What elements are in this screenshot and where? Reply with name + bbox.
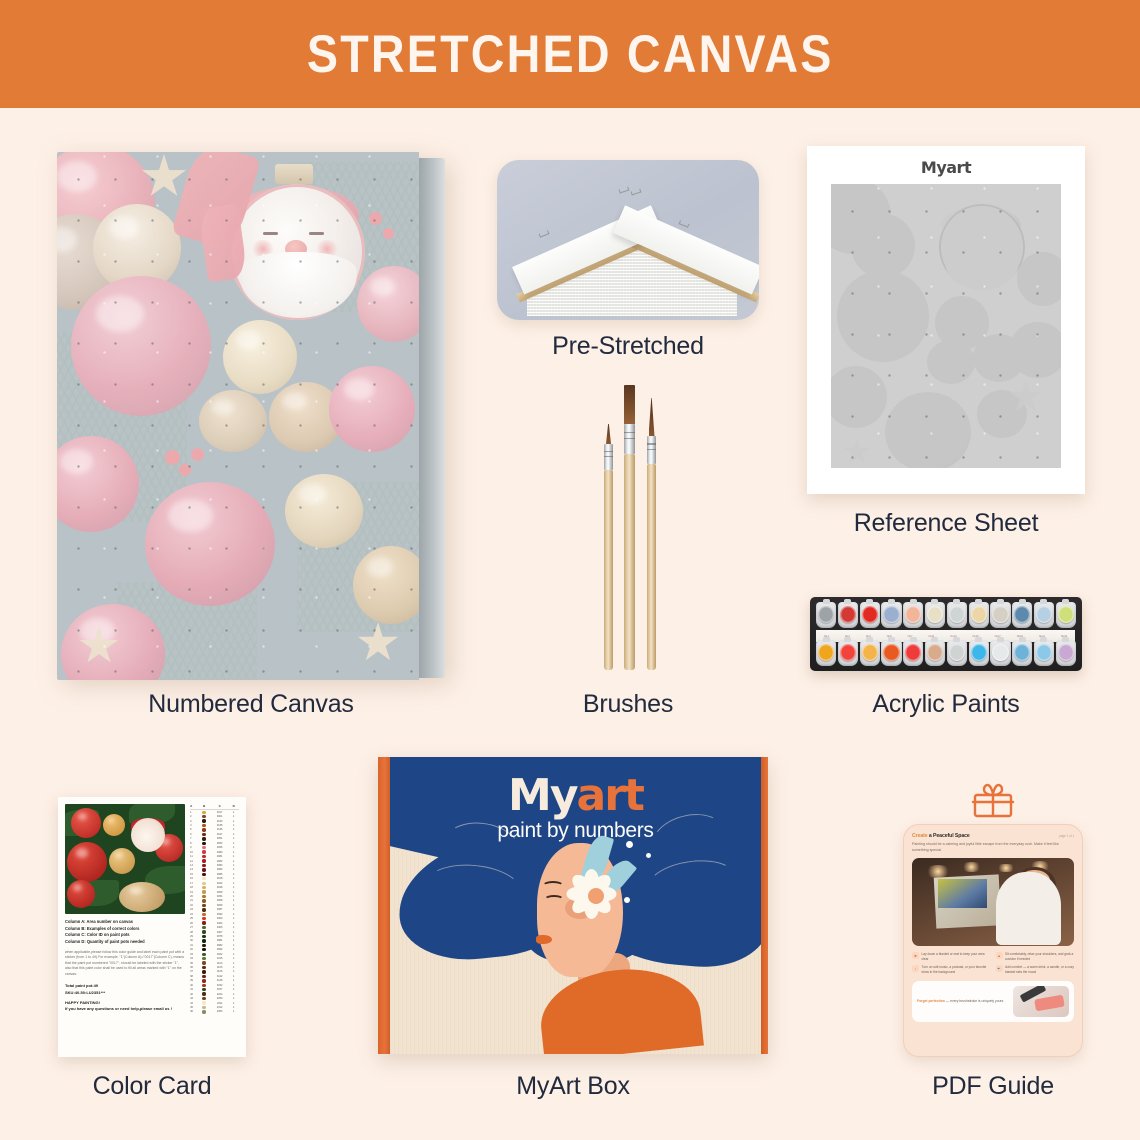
cell-color-id: 0405 (210, 926, 229, 929)
cell-area: 31 (190, 944, 198, 947)
canvas-wrapped-edge (419, 158, 445, 678)
cell-qty: 1 (229, 939, 238, 942)
cell-qty: 1 (229, 957, 238, 960)
cell-color-id: 0069 (210, 904, 229, 907)
pdf-title-accent: Create (912, 833, 928, 839)
pot-lid (992, 606, 1008, 623)
cell-swatch (198, 877, 210, 880)
pot-tab (997, 599, 1004, 604)
box-subtitle: paint by numbers (390, 819, 761, 843)
pot-lid (883, 644, 899, 661)
table-row: 4623531 (190, 1010, 239, 1014)
tip-text: Turn on soft music, a podcast, or your f… (922, 965, 991, 975)
cell-area: 19 (190, 891, 198, 894)
color-card-table: A B C D 10017120001130130140135150146160… (190, 804, 239, 1050)
pdf-tip: ▲Sit comfortably, relax your shoulders, … (996, 952, 1075, 962)
paint-pot (816, 602, 836, 628)
pdf-tip: ■Lay down a blanket or mat to keep your … (912, 952, 991, 962)
paint-pot (1034, 640, 1054, 666)
cell-color-id: 1002 (210, 953, 229, 956)
cell-swatch (198, 819, 210, 822)
brush-small (604, 424, 613, 670)
cell-color-id: 0992 (210, 948, 229, 951)
pot-tab (910, 637, 917, 642)
page-title: STRETCHED CANVAS (307, 24, 834, 85)
paint-pot (903, 602, 923, 628)
cell-area: 29 (190, 935, 198, 938)
box-left-edge (378, 757, 390, 1054)
cell-qty: 1 (229, 908, 238, 911)
cell-color-id: 0085 (210, 873, 229, 876)
pot-lid (927, 644, 943, 661)
cell-swatch (198, 886, 210, 889)
color-card-columns: Column A: Area number on canvas Column B… (65, 919, 185, 946)
pot-tab (1040, 599, 1047, 604)
pot-tab (1040, 637, 1047, 642)
cell-area: 8 (190, 842, 198, 845)
box-right-edge (761, 757, 768, 1054)
color-card-image: Column A: Area number on canvas Column B… (58, 797, 246, 1057)
cell-color-id: 0080 (210, 851, 229, 854)
paint-pot (1012, 640, 1032, 666)
cell-qty: 1 (229, 828, 238, 831)
paint-pot (1056, 640, 1076, 666)
brushes-image (600, 385, 662, 670)
staple (631, 189, 642, 196)
cell-color-id: 2353 (210, 1010, 229, 1013)
paint-pot (925, 640, 945, 666)
cell-area: 45 (190, 1006, 198, 1009)
cell-swatch (198, 890, 210, 893)
cell-swatch (198, 855, 210, 858)
cell-area: 17 (190, 882, 198, 885)
cell-area: 34 (190, 957, 198, 960)
pot-tab (931, 637, 938, 642)
pdf-note-text: Forget perfection — every brushstroke is… (917, 999, 1009, 1004)
lips (536, 935, 552, 944)
label-reference-sheet: Reference Sheet (807, 509, 1085, 538)
cell-qty: 1 (229, 1010, 238, 1013)
cell-qty: 1 (229, 1006, 238, 1009)
cell-area: 38 (190, 975, 198, 978)
sparkle-dot (626, 841, 633, 848)
cell-qty: 1 (229, 846, 238, 849)
cell-qty: 1 (229, 922, 238, 925)
tip-icon: ♪ (912, 965, 919, 972)
pot-lid (971, 644, 987, 661)
cell-qty: 1 (229, 855, 238, 858)
cell-swatch (198, 984, 210, 987)
cell-color-id: 2311 (210, 1002, 229, 1005)
color-card-footer: Total paint pot:49 SKU:40-50:LU2351*** H… (65, 983, 185, 1014)
cell-area: 16 (190, 877, 198, 880)
pdf-tips-grid: ■Lay down a blanket or mat to keep your … (912, 952, 1074, 975)
pot-tab (1062, 637, 1069, 642)
cell-color-id: 2250 (210, 997, 229, 1000)
pot-lid (1036, 606, 1052, 623)
cell-qty: 1 (229, 837, 238, 840)
paint-pot (947, 602, 967, 628)
cell-area: 9 (190, 846, 198, 849)
cell-swatch (198, 966, 210, 969)
cell-color-id: 0084 (210, 868, 229, 871)
cell-area: 5 (190, 828, 198, 831)
pot-lid (971, 606, 987, 623)
pot-tab (1019, 637, 1026, 642)
pdf-guide-page: Create a Peaceful Space page 1 of 1 Pain… (903, 824, 1083, 1057)
pot-tab (953, 637, 960, 642)
cell-swatch (198, 953, 210, 956)
cell-swatch (198, 926, 210, 929)
cell-qty: 1 (229, 993, 238, 996)
cell-swatch (198, 992, 210, 995)
cell-swatch (198, 895, 210, 898)
paint-pot (925, 602, 945, 628)
pot-tab (975, 637, 982, 642)
tip-icon: ▲ (996, 952, 1003, 959)
cell-qty: 1 (229, 873, 238, 876)
cell-qty: 1 (229, 864, 238, 867)
cell-swatch (198, 824, 210, 827)
cell-area: 21 (190, 899, 198, 902)
cell-swatch (198, 828, 210, 831)
cell-area: 14 (190, 868, 198, 871)
brush-round (647, 398, 656, 670)
cell-color-id: 0981 (210, 939, 229, 942)
cell-color-id: 0028 (210, 886, 229, 889)
cell-qty: 1 (229, 904, 238, 907)
paint-pot (881, 640, 901, 666)
cell-area: 18 (190, 886, 198, 889)
cell-qty: 1 (229, 988, 238, 991)
pot-tab (844, 599, 851, 604)
color-card-photo (65, 804, 185, 914)
cell-qty: 1 (229, 913, 238, 916)
cell-swatch (198, 917, 210, 920)
cell-qty: 1 (229, 882, 238, 885)
paint-pot (990, 640, 1010, 666)
brush-flat (624, 385, 635, 670)
pot-tab (975, 599, 982, 604)
staple (539, 230, 550, 237)
pot-tab (823, 637, 830, 642)
cell-area: 23 (190, 908, 198, 911)
cell-qty: 1 (229, 860, 238, 863)
reference-sheet-image: Myart (807, 146, 1085, 494)
cell-color-id: 0083 (210, 864, 229, 867)
cell-area: 24 (190, 913, 198, 916)
cell-qty: 1 (229, 931, 238, 934)
pot-lid (883, 606, 899, 623)
pdf-title-rest: a Peaceful Space (928, 833, 970, 839)
pot-tab (823, 599, 830, 604)
cell-swatch (198, 873, 210, 876)
cell-qty: 1 (229, 979, 238, 982)
cell-area: 27 (190, 926, 198, 929)
cell-swatch (198, 811, 210, 814)
sparkle-dot (624, 897, 630, 903)
canvas-front-face (57, 152, 419, 680)
numbered-canvas-image (57, 152, 445, 680)
paint-pot (881, 602, 901, 628)
cell-swatch (198, 833, 210, 836)
cell-area: 1 (190, 811, 198, 814)
cell-area: 3 (190, 820, 198, 823)
cell-area: 4 (190, 824, 198, 827)
paint-pot (1012, 602, 1032, 628)
pot-tab (953, 599, 960, 604)
cell-color-id: 3157 (210, 988, 229, 991)
cell-swatch (198, 944, 210, 947)
cell-swatch (198, 864, 210, 867)
cell-color-id: 3148 (210, 979, 229, 982)
cell-area: 20 (190, 895, 198, 898)
cell-area: 39 (190, 979, 198, 982)
staple (619, 187, 630, 194)
cell-qty: 1 (229, 842, 238, 845)
cell-swatch (198, 868, 210, 871)
cell-area: 40 (190, 984, 198, 987)
cell-qty: 1 (229, 895, 238, 898)
cell-swatch (198, 997, 210, 1000)
cell-swatch (198, 1001, 210, 1004)
cell-area: 10 (190, 851, 198, 854)
daisy-flower (568, 867, 624, 923)
paint-row-top (816, 602, 1076, 628)
pdf-note-image (1013, 986, 1069, 1017)
paint-pot (947, 640, 967, 666)
cell-qty: 1 (229, 833, 238, 836)
eyelash (544, 895, 564, 904)
cell-qty: 1 (229, 824, 238, 827)
paint-pot (816, 640, 836, 666)
cell-swatch (198, 882, 210, 885)
cell-qty: 1 (229, 891, 238, 894)
pot-tab (1019, 599, 1026, 604)
pot-lid (840, 644, 856, 661)
cell-qty: 1 (229, 935, 238, 938)
paint-pot (838, 640, 858, 666)
pot-lid (1036, 644, 1052, 661)
pot-lid (1014, 644, 1030, 661)
paint-pot (838, 602, 858, 628)
acrylic-paints-image: No.1No.2No.3No.5No.7No.11No.13No.15No.17… (810, 597, 1082, 671)
paint-pot (903, 640, 923, 666)
cell-area: 7 (190, 837, 198, 840)
cell-swatch (198, 939, 210, 942)
pot-tab (866, 637, 873, 642)
cell-qty: 1 (229, 953, 238, 956)
pdf-tip: ☕Add comfort — a warm drink, a candle, o… (996, 965, 1075, 975)
label-pre-stretched: Pre-Stretched (497, 332, 759, 361)
cell-area: 41 (190, 988, 198, 991)
pot-tab (888, 599, 895, 604)
cell-area: 44 (190, 1002, 198, 1005)
cell-swatch (198, 846, 210, 849)
cell-swatch (198, 908, 210, 911)
sparkle-dot (646, 853, 651, 858)
tip-text: Sit comfortably, relax your shoulders, a… (1005, 952, 1074, 962)
cell-swatch (198, 815, 210, 818)
cell-area: 26 (190, 922, 198, 925)
cell-area: 25 (190, 917, 198, 920)
paint-pot (860, 602, 880, 628)
cell-area: 42 (190, 993, 198, 996)
cell-qty: 1 (229, 948, 238, 951)
cell-color-id: 0051 (210, 837, 229, 840)
pot-lid (949, 606, 965, 623)
cell-swatch (198, 948, 210, 951)
cell-color-id: 2224 (210, 993, 229, 996)
paint-row-bottom (816, 640, 1076, 666)
cell-swatch (198, 904, 210, 907)
label-pdf-guide: PDF Guide (903, 1072, 1083, 1101)
gift-icon (971, 782, 1015, 818)
cell-area: 37 (190, 970, 198, 973)
cell-color-id: 3152 (210, 984, 229, 987)
pot-lid (818, 644, 834, 661)
cell-color-id: 0404 (210, 922, 229, 925)
pdf-note-bold: Forget perfection (917, 999, 945, 1003)
pot-lid (862, 606, 878, 623)
cell-swatch (198, 935, 210, 938)
box-front-face: Myart paint by numbers (390, 757, 761, 1054)
cell-area: 35 (190, 962, 198, 965)
label-acrylic-paints: Acrylic Paints (807, 690, 1085, 719)
cell-area: 6 (190, 833, 198, 836)
pot-tab (910, 599, 917, 604)
pre-stretched-image (497, 160, 759, 320)
cell-color-id: 3142 (210, 975, 229, 978)
cell-color-id: 0407 (210, 931, 229, 934)
cell-color-id: 0082 (210, 860, 229, 863)
cell-qty: 1 (229, 984, 238, 987)
cell-qty: 1 (229, 811, 238, 814)
cell-swatch (198, 1010, 210, 1013)
cell-qty: 1 (229, 944, 238, 947)
cell-qty: 1 (229, 975, 238, 978)
cell-swatch (198, 859, 210, 862)
cell-swatch (198, 979, 210, 982)
pdf-photo (912, 858, 1074, 946)
cell-color-id: 2312 (210, 1006, 229, 1009)
pot-tab (888, 637, 895, 642)
shirt (536, 962, 704, 1054)
cell-color-id: 0130 (210, 820, 229, 823)
logo-art: art (577, 770, 643, 821)
pot-lid (862, 644, 878, 661)
cell-color-id: 0068 (210, 899, 229, 902)
pdf-tip: ♪Turn on soft music, a podcast, or your … (912, 965, 991, 975)
pot-lid (992, 644, 1008, 661)
pot-lid (818, 606, 834, 623)
canvas-speckle-texture (57, 152, 419, 680)
label-myart-box: MyArt Box (378, 1072, 768, 1101)
color-card-left-column: Column A: Area number on canvas Column B… (65, 804, 185, 1050)
cell-swatch (198, 842, 210, 845)
cell-area: 11 (190, 855, 198, 858)
cell-swatch (198, 930, 210, 933)
pdf-note-rest: — every brushstroke is uniquely yours (945, 999, 1003, 1003)
color-card-instructions: when applicable,please follow this color… (65, 950, 185, 978)
reference-sheet-artwork (831, 184, 1061, 468)
pot-tab (1062, 599, 1069, 604)
paint-pot (990, 602, 1010, 628)
myart-box-image: Myart paint by numbers (378, 757, 768, 1054)
pot-tab (866, 599, 873, 604)
cell-color-id: 1105 (210, 966, 229, 969)
label-numbered-canvas: Numbered Canvas (57, 690, 445, 719)
cell-swatch (198, 850, 210, 853)
cell-qty: 1 (229, 899, 238, 902)
cell-color-id: 0982 (210, 944, 229, 947)
paint-pot (969, 640, 989, 666)
cell-area: 30 (190, 939, 198, 942)
pot-lid (1058, 606, 1074, 623)
cell-qty: 1 (229, 962, 238, 965)
paint-pot (969, 602, 989, 628)
pot-tab (844, 637, 851, 642)
cell-swatch (198, 1006, 210, 1009)
pdf-heading: Create a Peaceful Space page 1 of 1 (912, 833, 1074, 839)
cell-area: 12 (190, 860, 198, 863)
cell-qty: 1 (229, 886, 238, 889)
pot-tab (931, 599, 938, 604)
cell-area: 33 (190, 953, 198, 956)
paint-pot (860, 640, 880, 666)
cell-color-id: 0001 (210, 815, 229, 818)
cell-color-id: 0022 (210, 882, 229, 885)
cell-swatch (198, 957, 210, 960)
pdf-intro-text: Painting should be a calming and joyful … (912, 842, 1074, 853)
cell-qty: 1 (229, 1002, 238, 1005)
myart-logo: Myart (390, 770, 761, 821)
pot-lid (905, 644, 921, 661)
cell-area: 15 (190, 873, 198, 876)
cell-swatch (198, 837, 210, 840)
cell-qty: 1 (229, 966, 238, 969)
cell-swatch (198, 899, 210, 902)
cell-color-id: 0087 (210, 908, 229, 911)
cell-swatch (198, 970, 210, 973)
tip-text: Lay down a blanket or mat to keep your a… (922, 952, 991, 962)
cell-color-id: 0017 (210, 811, 229, 814)
cell-area: 32 (190, 948, 198, 951)
cell-qty: 1 (229, 851, 238, 854)
cell-color-id: 0056 (210, 846, 229, 849)
cell-color-id: 0147 (210, 833, 229, 836)
cell-qty: 1 (229, 997, 238, 1000)
pot-lid (927, 606, 943, 623)
cell-area: 22 (190, 904, 198, 907)
cell-qty: 1 (229, 820, 238, 823)
label-color-card: Color Card (58, 1072, 246, 1101)
cell-area: 36 (190, 966, 198, 969)
cell-color-id: 1103 (210, 962, 229, 965)
cell-qty: 1 (229, 815, 238, 818)
paint-pot (1034, 602, 1054, 628)
cell-swatch (198, 913, 210, 916)
cell-qty: 1 (229, 970, 238, 973)
tip-text: Add comfort — a warm drink, a candle, or… (1005, 965, 1074, 975)
cell-area: 46 (190, 1010, 198, 1013)
cell-swatch (198, 961, 210, 964)
cell-qty: 1 (229, 917, 238, 920)
cell-swatch (198, 988, 210, 991)
pot-lid (949, 644, 965, 661)
cell-area: 2 (190, 815, 198, 818)
cell-color-id: 1015 (210, 957, 229, 960)
